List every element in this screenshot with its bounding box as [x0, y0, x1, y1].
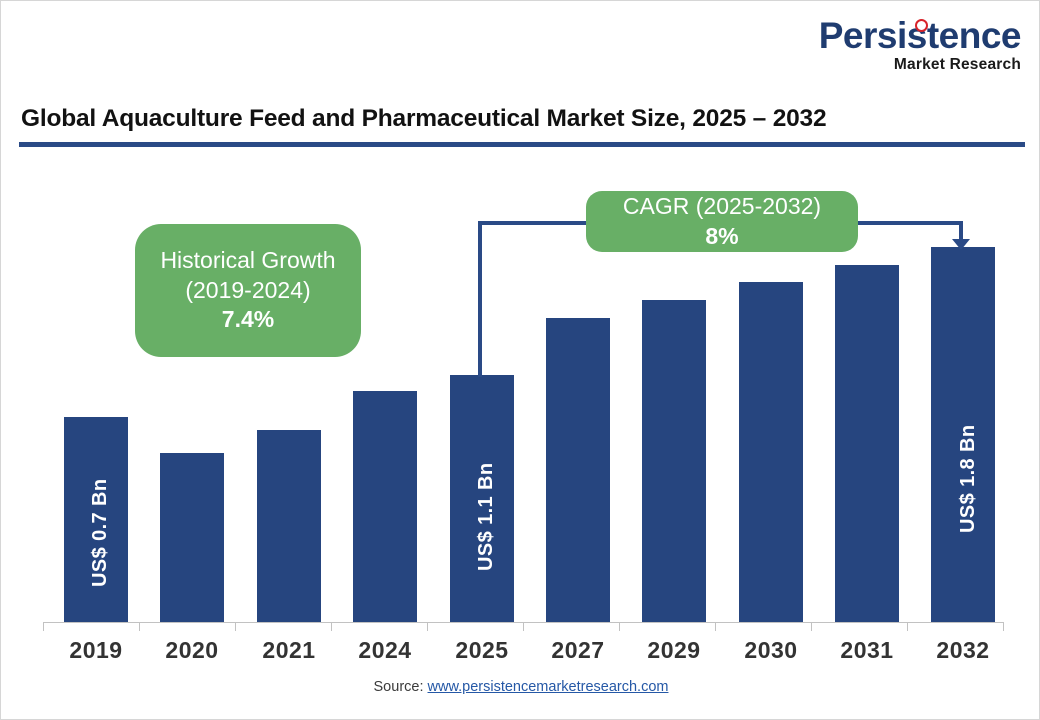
connector-2032-horizontal: [854, 221, 961, 225]
chart-infographic: Persistence Market Research Global Aquac…: [0, 0, 1040, 720]
axis-tick: [427, 622, 428, 631]
callout-cagr-line1: CAGR (2025-2032): [623, 192, 821, 221]
bar-value-label-2032: US$ 1.8 Bn: [957, 425, 980, 533]
bar-chart: US$ 0.7 Bn US$ 1.1 Bn US$ 1.8 Bn 2019 20…: [1, 1, 1040, 720]
axis-tick: [235, 622, 236, 631]
axis-tick: [43, 622, 44, 631]
bar-value-label-2025: US$ 1.1 Bn: [475, 463, 498, 571]
bar-2020: [160, 453, 224, 622]
source-link[interactable]: www.persistencemarketresearch.com: [428, 679, 669, 695]
connector-2032-vertical: [959, 221, 963, 241]
callout-historical-line1: Historical Growth: [160, 246, 335, 275]
xtick-label-2030: 2030: [721, 637, 821, 664]
bar-value-label-2019: US$ 0.7 Bn: [89, 479, 112, 587]
axis-tick: [1003, 622, 1004, 631]
xtick-label-2020: 2020: [142, 637, 242, 664]
connector-arrowhead-icon: [952, 239, 970, 250]
bar-2031: [835, 265, 899, 622]
xtick-label-2021: 2021: [239, 637, 339, 664]
callout-historical-value: 7.4%: [222, 305, 274, 334]
bar-2030: [739, 282, 803, 622]
axis-tick: [619, 622, 620, 631]
xtick-label-2027: 2027: [528, 637, 628, 664]
callout-historical-line2: (2019-2024): [185, 276, 310, 305]
xtick-label-2032: 2032: [913, 637, 1013, 664]
xtick-label-2031: 2031: [817, 637, 917, 664]
connector-2025-horizontal: [478, 221, 590, 225]
axis-tick: [907, 622, 908, 631]
axis-tick: [715, 622, 716, 631]
bar-2027: [546, 318, 610, 622]
callout-historical-growth: Historical Growth (2019-2024) 7.4%: [135, 224, 361, 357]
axis-tick: [523, 622, 524, 631]
bar-2029: [642, 300, 706, 622]
axis-tick: [331, 622, 332, 631]
xtick-label-2019: 2019: [46, 637, 146, 664]
xtick-label-2024: 2024: [335, 637, 435, 664]
axis-tick: [811, 622, 812, 631]
bar-2024: [353, 391, 417, 622]
source-prefix: Source:: [374, 679, 428, 695]
axis-tick: [139, 622, 140, 631]
callout-cagr-value: 8%: [705, 222, 738, 251]
callout-cagr: CAGR (2025-2032) 8%: [586, 191, 858, 252]
xtick-label-2025: 2025: [432, 637, 532, 664]
bar-2021: [257, 430, 321, 622]
connector-2025-vertical: [478, 221, 482, 377]
xtick-label-2029: 2029: [624, 637, 724, 664]
source-line: Source: www.persistencemarketresearch.co…: [1, 679, 1040, 695]
